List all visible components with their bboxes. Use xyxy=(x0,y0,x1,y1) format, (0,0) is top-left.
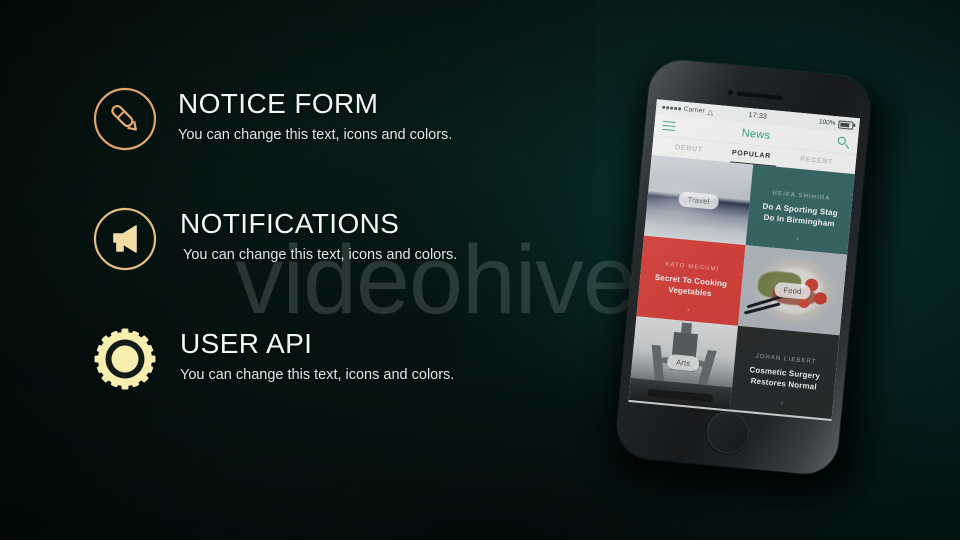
card-more-chevron[interactable]: › xyxy=(687,306,690,314)
feature-title: NOTIFICATIONS xyxy=(180,208,580,240)
food-tomato-shape xyxy=(798,297,810,309)
category-badge: Arts xyxy=(667,354,700,372)
feature-title: USER API xyxy=(180,328,580,360)
card-more-chevron[interactable]: › xyxy=(796,235,799,243)
card-more-chevron[interactable]: › xyxy=(780,399,783,407)
feature-item-notice-form[interactable]: NOTICE FORM You can change this text, ic… xyxy=(92,86,572,206)
card-author: KATO MEGUMI xyxy=(665,262,720,273)
pencil-icon xyxy=(92,86,158,152)
battery-icon xyxy=(838,120,854,129)
feature-text-block: NOTICE FORM You can change this text, ic… xyxy=(178,88,578,145)
feature-item-notifications[interactable]: NOTIFICATIONS You can change this text, … xyxy=(92,206,572,326)
feature-item-user-api[interactable]: USER API You can change this text, icons… xyxy=(92,326,572,446)
card-travel-photo[interactable]: Travel xyxy=(644,155,753,245)
feature-text-block: USER API You can change this text, icons… xyxy=(180,328,580,385)
card-sporting-stag[interactable]: REIKA SHIHIRA Do A Sporting Stag Do In B… xyxy=(746,165,855,255)
phone-body: Carrier △ 17:33 100% News xyxy=(614,58,873,477)
megaphone-icon xyxy=(92,206,158,272)
news-card-grid: Travel REIKA SHIHIRA Do A Sporting Stag … xyxy=(629,155,855,419)
feature-subtitle: You can change this text, icons and colo… xyxy=(178,125,578,145)
card-cosmetic-surgery[interactable]: JOHAN LIEBERT Cosmetic Surgery Restores … xyxy=(730,326,839,419)
tab-popular[interactable]: POPULAR xyxy=(732,150,772,161)
slide-stage: videohive NOTICE FORM You can change thi… xyxy=(0,0,960,540)
feature-subtitle: You can change this text, icons and colo… xyxy=(180,365,580,385)
feature-list: NOTICE FORM You can change this text, ic… xyxy=(92,86,572,446)
card-cooking-vegetables[interactable]: KATO MEGUMI Secret To Cooking Vegetables… xyxy=(636,236,745,326)
feature-text-block: NOTIFICATIONS You can change this text, … xyxy=(180,208,580,265)
tab-debut[interactable]: DEBUT xyxy=(675,144,703,154)
tab-recent[interactable]: RECENT xyxy=(800,156,833,166)
gear-icon xyxy=(92,326,158,392)
feature-subtitle: You can change this text, icons and colo… xyxy=(183,245,580,265)
phone-mockup: Carrier △ 17:33 100% News xyxy=(598,46,907,500)
card-arts-photo[interactable]: Arts xyxy=(629,316,738,409)
food-tomato-shape xyxy=(814,292,827,305)
category-badge: Travel xyxy=(678,191,719,210)
card-author: REIKA SHIHIRA xyxy=(772,191,830,202)
phone-screen: Carrier △ 17:33 100% News xyxy=(628,99,860,421)
search-icon[interactable] xyxy=(837,136,850,149)
card-author: JOHAN LIEBERT xyxy=(755,353,816,365)
feature-title: NOTICE FORM xyxy=(178,88,578,120)
card-food-photo[interactable]: Food xyxy=(738,245,847,335)
